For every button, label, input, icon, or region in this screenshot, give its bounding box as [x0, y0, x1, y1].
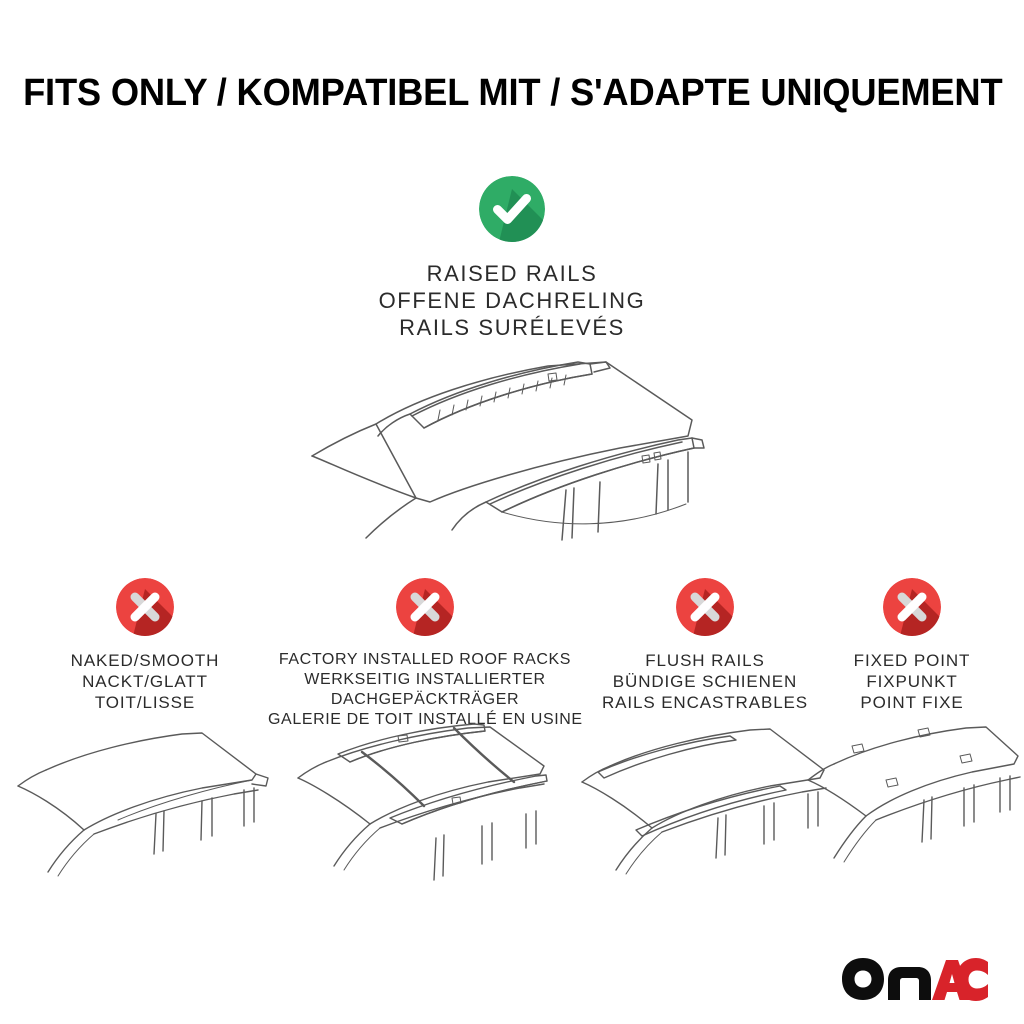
incompatible-label-en: FLUSH RAILS [590, 650, 820, 671]
incompatible-label-de-2: DACHGEPÄCKTRÄGER [268, 690, 582, 710]
x-circle-icon [883, 578, 941, 636]
compatible-labels: RAISED RAILS OFFENE DACHRELING RAILS SUR… [0, 260, 1024, 341]
page-title: FITS ONLY / KOMPATIBEL MIT / S'ADAPTE UN… [0, 72, 1024, 114]
incompatible-label-en: FACTORY INSTALLED ROOF RACKS [268, 650, 582, 670]
incompatible-labels: FLUSH RAILS BÜNDIGE SCHIENEN RAILS ENCAS… [590, 650, 820, 713]
check-circle-icon [479, 176, 545, 242]
incompatible-illustrations-row [0, 722, 1024, 902]
compatible-label-de: OFFENE DACHRELING [0, 287, 1024, 314]
car-roof-naked-smooth-illustration [6, 722, 276, 897]
compatible-label-en: RAISED RAILS [0, 260, 1024, 287]
car-roof-fixed-point-illustration [800, 722, 1024, 897]
incompatible-labels: NAKED/SMOOTH NACKT/GLATT TOIT/LISSE [20, 650, 270, 713]
x-circle-icon [676, 578, 734, 636]
car-roof-raised-rails-illustration [290, 352, 710, 552]
incompatible-label-fr: TOIT/LISSE [20, 692, 270, 713]
incompatible-item-naked-smooth: NAKED/SMOOTH NACKT/GLATT TOIT/LISSE [20, 578, 270, 713]
omac-logo [840, 956, 990, 1002]
incompatible-item-factory-roof-racks: FACTORY INSTALLED ROOF RACKS WERKSEITIG … [268, 578, 582, 730]
incompatible-label-fr: POINT FIXE [826, 692, 998, 713]
compatible-label-fr: RAILS SURÉLEVÉS [0, 314, 1024, 341]
incompatible-label-en: FIXED POINT [826, 650, 998, 671]
incompatible-label-fr: RAILS ENCASTRABLES [590, 692, 820, 713]
compatible-section: RAISED RAILS OFFENE DACHRELING RAILS SUR… [0, 176, 1024, 341]
x-circle-icon [396, 578, 454, 636]
incompatible-label-de: FIXPUNKT [826, 671, 998, 692]
incompatible-labels: FACTORY INSTALLED ROOF RACKS WERKSEITIG … [268, 650, 582, 730]
x-circle-icon [116, 578, 174, 636]
incompatible-labels: FIXED POINT FIXPUNKT POINT FIXE [826, 650, 998, 713]
incompatible-item-flush-rails: FLUSH RAILS BÜNDIGE SCHIENEN RAILS ENCAS… [590, 578, 820, 713]
incompatible-label-de: NACKT/GLATT [20, 671, 270, 692]
car-roof-factory-roof-racks-illustration [278, 722, 578, 897]
incompatible-section: NAKED/SMOOTH NACKT/GLATT TOIT/LISSE FACT… [0, 578, 1024, 728]
incompatible-label-de: BÜNDIGE SCHIENEN [590, 671, 820, 692]
page-title-text: FITS ONLY / KOMPATIBEL MIT / S'ADAPTE UN… [23, 72, 1002, 114]
incompatible-item-fixed-point: FIXED POINT FIXPUNKT POINT FIXE [826, 578, 998, 713]
incompatible-label-en: NAKED/SMOOTH [20, 650, 270, 671]
incompatible-label-de-1: WERKSEITIG INSTALLIERTER [268, 670, 582, 690]
